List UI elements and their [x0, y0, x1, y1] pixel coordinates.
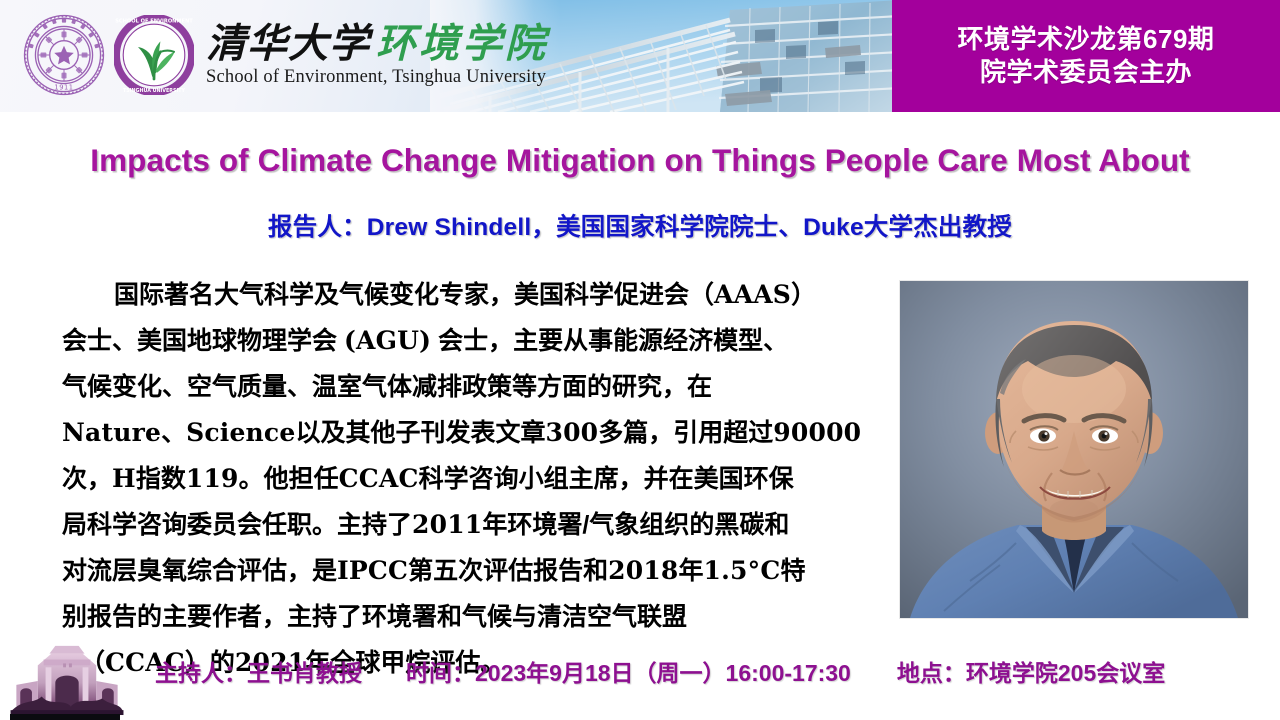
bio-cn-run: 特: [780, 557, 805, 585]
bio-latin-run: 2018: [608, 556, 678, 585]
bio-latin-run: 300: [545, 418, 598, 447]
school-of-environment-logo-icon: SCHOOL OF ENVIRONMENT TSINGHUA UNIVERSIT…: [114, 15, 194, 95]
school-name-cn-black: 清华大学: [206, 24, 370, 64]
bio-cn-run: 气候变化、空气质量、温室气体减排政策等方面的研究，在: [62, 373, 712, 401]
bio-cn-run: 。他担任: [239, 465, 339, 493]
bio-latin-run: 90000: [773, 418, 861, 447]
svg-text:TSINGHUA UNIVERSITY: TSINGHUA UNIVERSITY: [123, 88, 185, 94]
bio-cn-run: 会士、美国地球物理学会: [62, 327, 344, 355]
footer-host: 主持人：王书肖教授: [155, 654, 362, 688]
bio-cn-run: ）: [791, 281, 816, 309]
school-wordmark: 清华大学 环境学院 School of Environment, Tsinghu…: [206, 24, 548, 88]
bio-cn-run: 国际著名大气科学及气候变化专家，美国科学促进会（: [114, 281, 714, 309]
bio-line: 次，H指数119。他担任CCAC科学咨询小组主席，并在美国环保: [62, 456, 890, 502]
bio-cn-run: 年环境署/气象组织的黑碳和: [482, 511, 789, 539]
bio-line: 局科学咨询委员会任职。主持了2011年环境署/气象组织的黑碳和: [62, 502, 890, 548]
bio-latin-run: IPCC: [337, 556, 408, 585]
portrait-illustration: [900, 281, 1248, 618]
banner-line-1: 环境学术沙龙第679期: [958, 24, 1215, 55]
bio-cn-run: 别报告的主要作者，主持了环境署和气候与清洁空气联盟: [62, 603, 687, 631]
bio-cn-run: 第五次评估报告和: [408, 557, 608, 585]
bio-latin-run: Science: [186, 418, 295, 447]
talk-title: Impacts of Climate Change Mitigation on …: [0, 142, 1280, 179]
speaker-portrait: [900, 281, 1248, 618]
poster-footer: 主持人：王书肖教授 时间：2023年9月18日（周一）16:00-17:30 地…: [0, 634, 1280, 720]
bio-line: 会士、美国地球物理学会 (AGU) 会士，主要从事能源经济模型、: [62, 318, 890, 364]
bio-cn-run: 会士，主要从事能源经济模型、: [431, 327, 788, 355]
seminar-poster: 1911 SCHOOL OF ENVIRONMENT TSINGHUA UNIV…: [0, 0, 1280, 720]
bio-cn-run: 次，: [62, 465, 112, 493]
school-name-cn-green: 环境学院: [376, 24, 548, 64]
bio-latin-run: 2011: [412, 510, 482, 539]
bio-cn-run: 多篇，引用超过: [598, 419, 773, 447]
bio-latin-run: CCAC: [339, 464, 419, 493]
bio-cn-run: 以及其他子刊发表文章: [295, 419, 545, 447]
bio-line: 对流层臭氧综合评估，是IPCC第五次评估报告和2018年1.5°C特: [62, 548, 890, 594]
svg-text:1911: 1911: [54, 83, 73, 91]
bio-line: 国际著名大气科学及气候变化专家，美国科学促进会（AAAS）: [62, 272, 890, 318]
footer-place: 地点：环境学院205会议室: [897, 654, 1165, 688]
bio-cn-run: 科学咨询小组主席，并在美国环保: [419, 465, 794, 493]
bio-cn-run: 局科学咨询委员会任职。主持了: [62, 511, 412, 539]
bio-latin-run: Nature: [62, 418, 161, 447]
seminar-banner: 环境学术沙龙第679期 院学术委员会主办: [892, 0, 1280, 112]
bio-cn-run: 、: [161, 419, 186, 447]
poster-header: 1911 SCHOOL OF ENVIRONMENT TSINGHUA UNIV…: [0, 0, 1280, 112]
bottom-accent-bar: [10, 714, 120, 720]
bio-cn-run: 年: [679, 557, 704, 585]
bio-latin-run: AAAS: [714, 280, 791, 309]
speaker-bio: 国际著名大气科学及气候变化专家，美国科学促进会（AAAS）会士、美国地球物理学会…: [62, 272, 890, 686]
header-logo-row: 1911 SCHOOL OF ENVIRONMENT TSINGHUA UNIV…: [22, 13, 548, 97]
speaker-portrait-frame: [900, 281, 1248, 618]
bio-line: Nature、Science以及其他子刊发表文章300多篇，引用超过90000: [62, 410, 890, 456]
banner-line-2: 院学术委员会主办: [980, 57, 1192, 88]
bio-cn-run: 指数: [136, 465, 186, 493]
bio-latin-run: H: [112, 464, 136, 493]
bio-latin-run: 1.5°C: [704, 556, 781, 585]
svg-text:SCHOOL OF ENVIRONMENT: SCHOOL OF ENVIRONMENT: [115, 19, 193, 25]
speaker-line: 报告人：Drew Shindell，美国国家科学院院士、Duke大学杰出教授: [0, 208, 1280, 243]
tsinghua-seal-icon: 1911: [22, 13, 106, 97]
bio-latin-run: 119: [186, 464, 239, 493]
bio-cn-run: 对流层臭氧综合评估，是: [62, 557, 337, 585]
school-name-en: School of Environment, Tsinghua Universi…: [206, 67, 548, 88]
bio-latin-run: (AGU): [344, 326, 431, 355]
bio-line: 气候变化、空气质量、温室气体减排政策等方面的研究，在: [62, 364, 890, 410]
footer-details: 主持人：王书肖教授 时间：2023年9月18日（周一）16:00-17:30 地…: [0, 654, 1280, 688]
footer-time: 时间：2023年9月18日（周一）16:00-17:30: [406, 654, 851, 688]
